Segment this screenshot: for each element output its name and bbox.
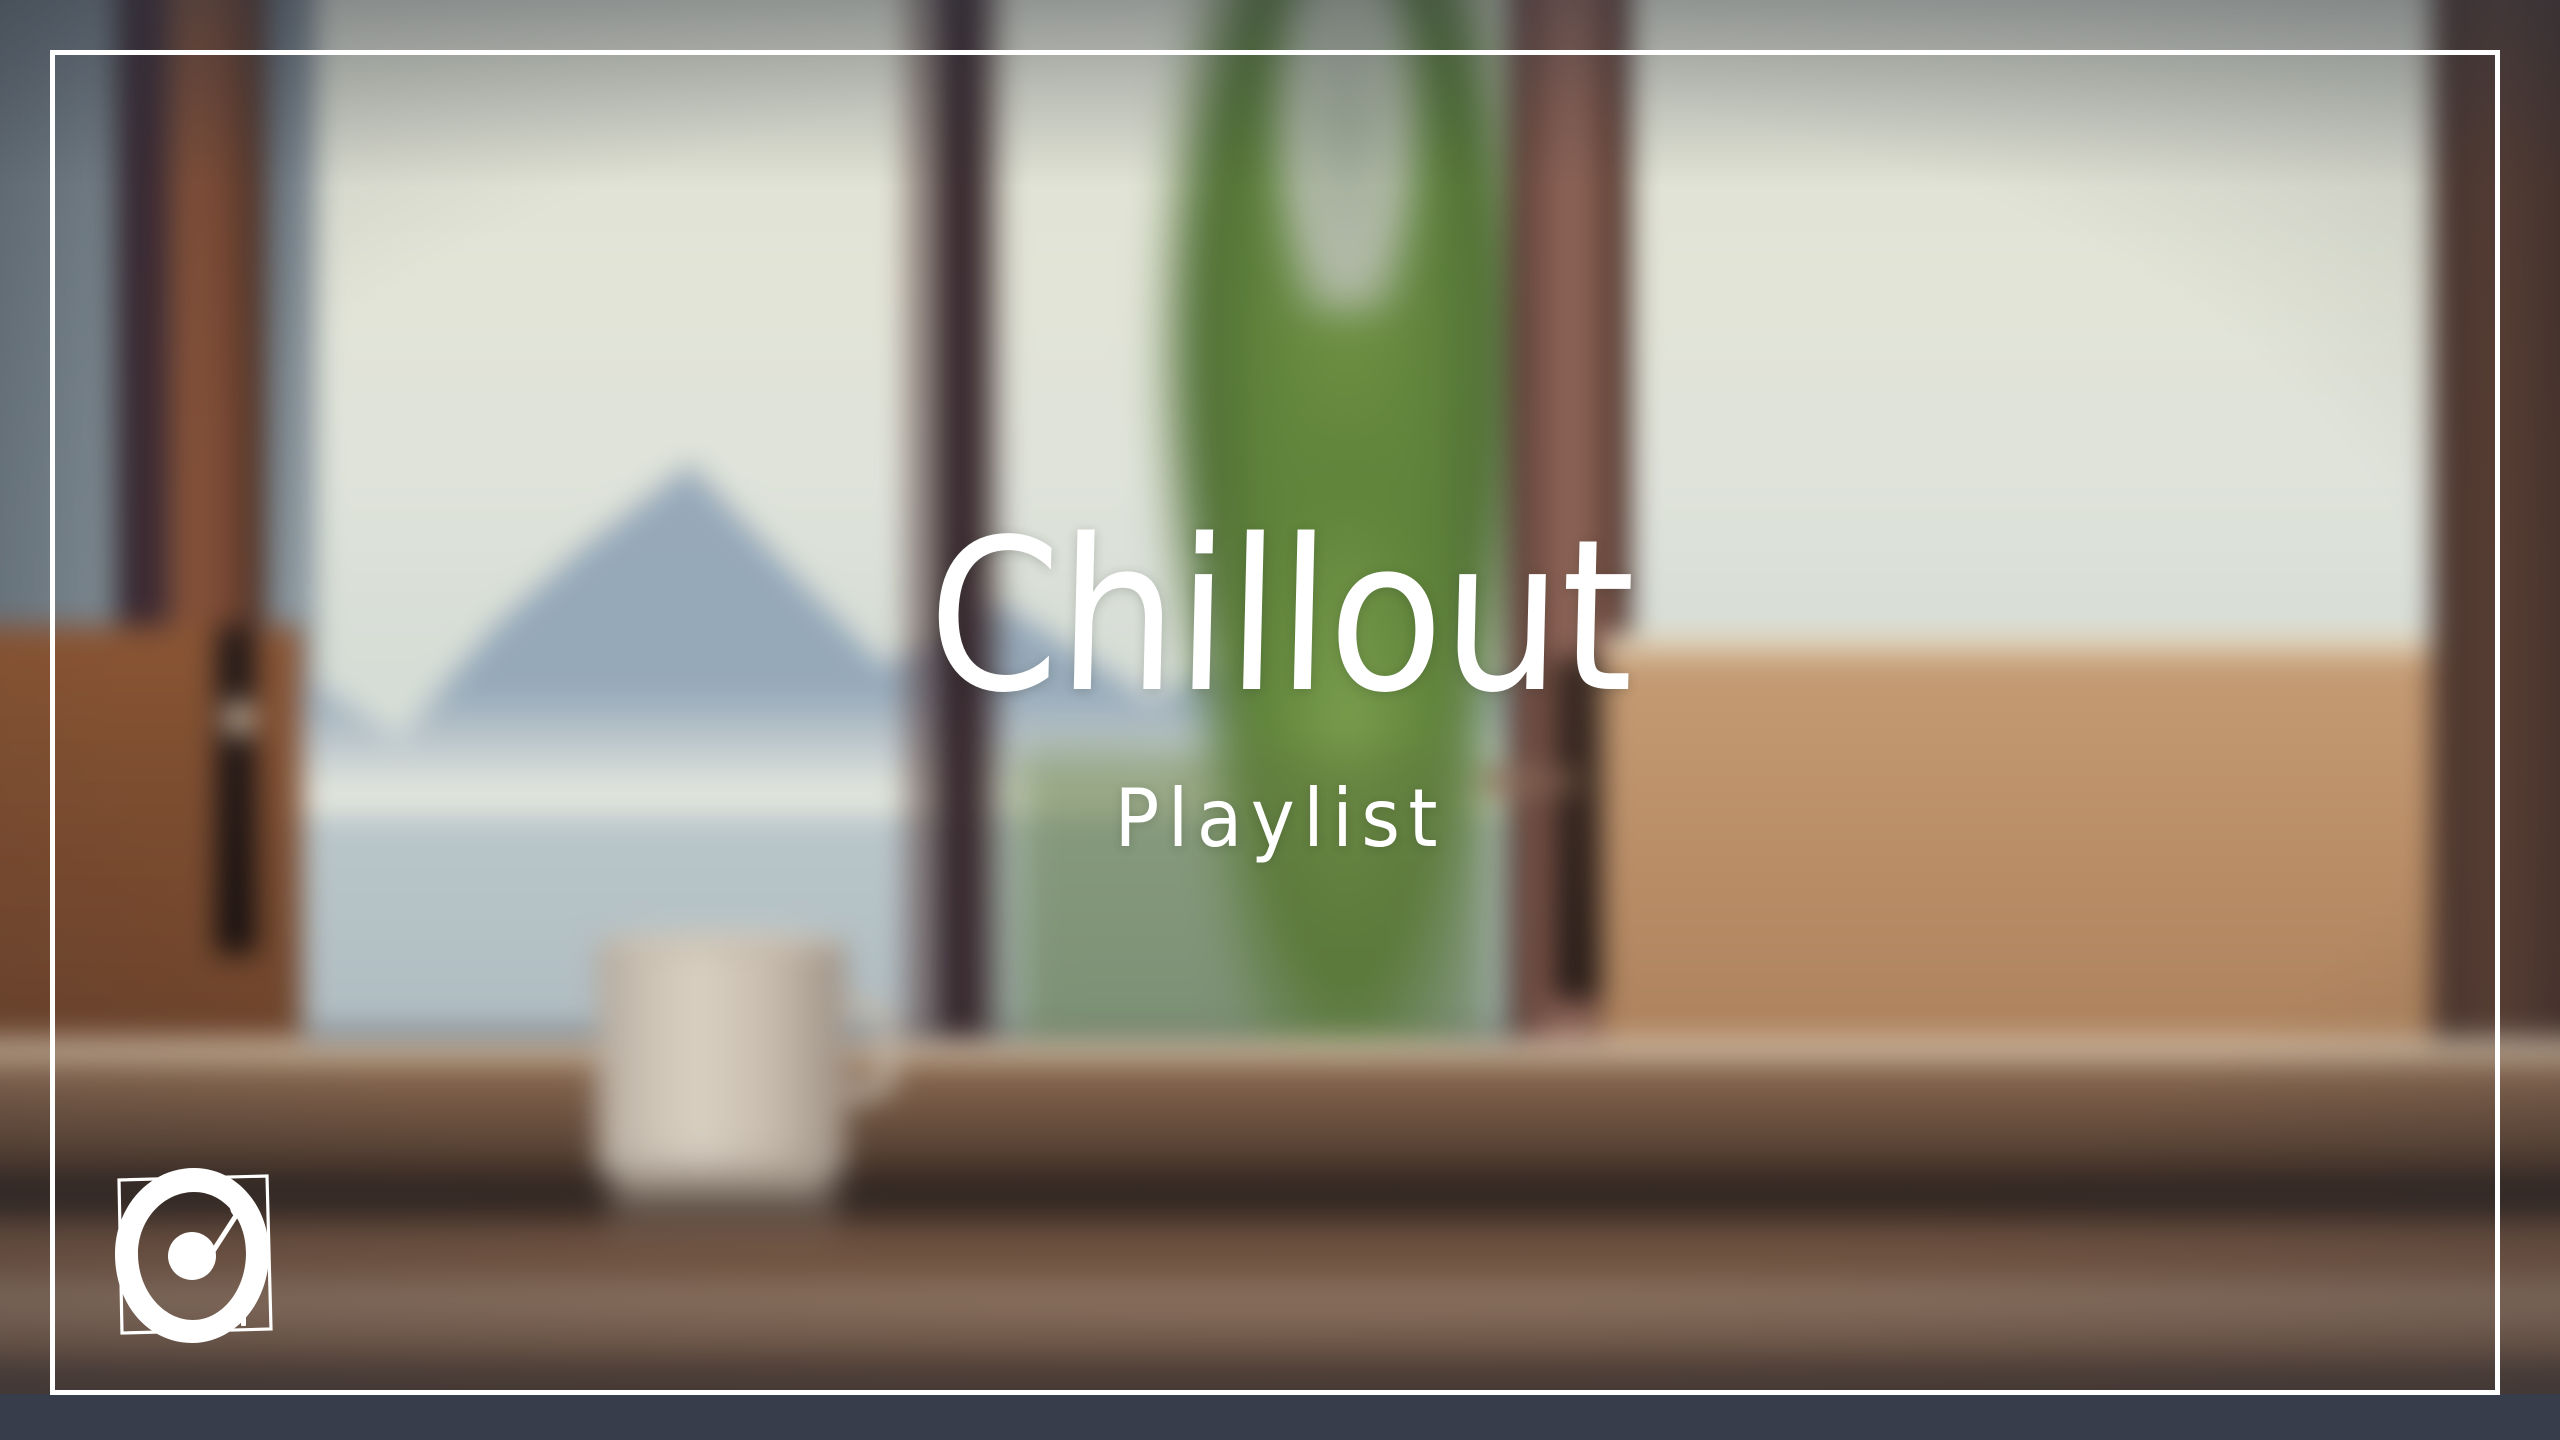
- bottom-slate-band: [0, 1394, 2560, 1440]
- mug-rim: [594, 931, 848, 949]
- window-latch-left-knob: [224, 701, 253, 735]
- mug-reflection: [609, 1185, 838, 1262]
- background-photo: [0, 0, 2560, 1440]
- tonearm: [208, 1211, 239, 1259]
- poster-canvas: Chillout Playlist: [0, 0, 2560, 1440]
- window-latch-left: [216, 626, 256, 954]
- windowsill-face: [0, 1063, 2560, 1180]
- coffee-mug: [597, 931, 846, 1188]
- window-latch-right: [1553, 658, 1601, 1001]
- tree-top-haze: [1253, 0, 1441, 314]
- counterweight: [230, 1195, 254, 1219]
- mug-body: [597, 938, 846, 1183]
- window-mullion-mid-shade: [940, 0, 983, 1094]
- windowsill-top-edge: [0, 1040, 2560, 1065]
- windowsill-shadow: [0, 1165, 2560, 1227]
- window-latch-right-lever: [1484, 770, 1580, 793]
- spindle-dot: [189, 1253, 194, 1258]
- turntable-logo: [108, 1163, 283, 1348]
